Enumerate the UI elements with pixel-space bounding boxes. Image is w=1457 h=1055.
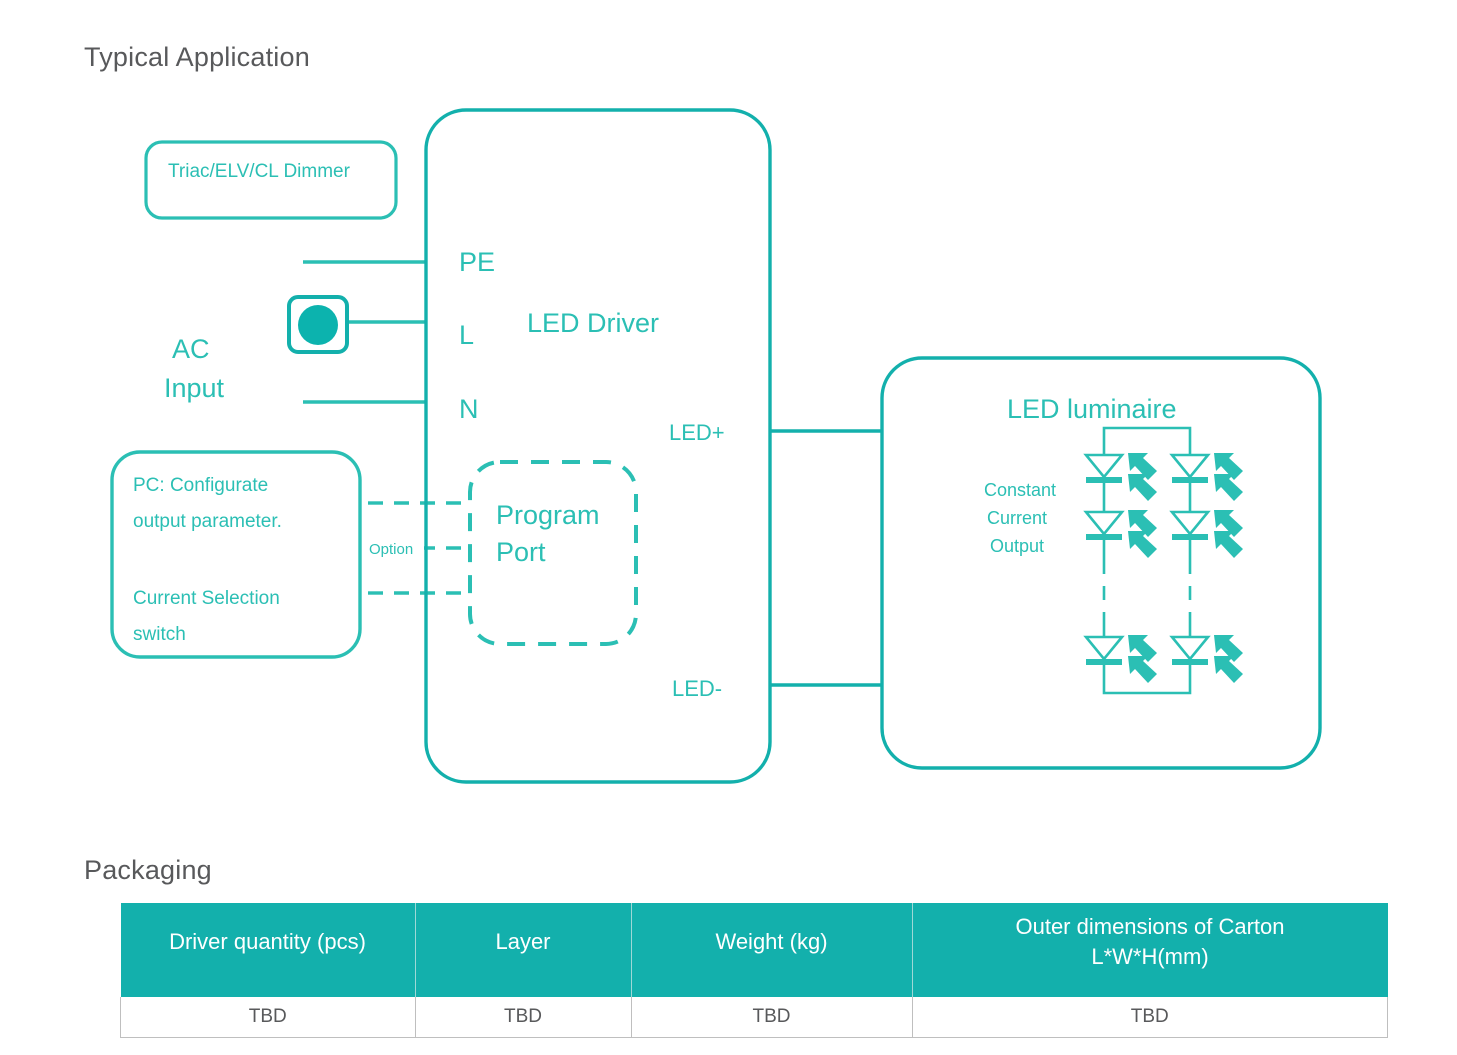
pc-config-line-3: Current Selection <box>133 588 280 609</box>
led-arrow-2 <box>1214 531 1243 558</box>
terminal-label-pe: PE <box>459 247 495 277</box>
typical-application-diagram: Triac/ELV/CL Dimmer AC Input PC: Configu… <box>0 0 1457 840</box>
output-label-led-negative: LED- <box>672 676 722 701</box>
header-line-2: L*W*H(mm) <box>1091 944 1208 969</box>
led-diode-s2-2 <box>1172 510 1243 558</box>
pc-config-line-1: PC: Configurate <box>133 475 268 496</box>
ac-switch-indicator <box>298 305 338 345</box>
led-diode-triangle <box>1086 455 1122 477</box>
led-diode-cathode-bar <box>1086 477 1122 483</box>
led-luminaire-title: LED luminaire <box>1007 394 1177 424</box>
led-driver-box: LED Driver PE L N LED+ LED- <box>426 110 770 782</box>
cell-weight: TBD <box>631 997 912 1038</box>
led-emission-arrows <box>1128 510 1157 558</box>
dimmer-box-label: Triac/ELV/CL Dimmer <box>168 161 351 182</box>
table-header-outer-dimensions: Outer dimensions of Carton L*W*H(mm) <box>912 903 1388 997</box>
led-diode-triangle <box>1172 455 1208 477</box>
table-header-driver-quantity: Driver quantity (pcs) <box>121 903 416 997</box>
led-diode-cathode-bar <box>1086 534 1122 540</box>
cell-layer: TBD <box>415 997 631 1038</box>
header-line-1: Outer dimensions of Carton <box>1015 914 1284 939</box>
pc-config-line-2: output parameter. <box>133 511 282 532</box>
ac-input-label: AC Input <box>164 334 225 403</box>
table-header-layer: Layer <box>415 903 631 997</box>
led-diode-triangle <box>1086 637 1122 659</box>
output-wiring <box>770 431 882 685</box>
cell-outer-dimensions: TBD <box>912 997 1388 1038</box>
led-driver-title: LED Driver <box>527 308 659 338</box>
led-arrow-2 <box>1128 474 1157 501</box>
option-dashed-wiring: Option <box>366 503 470 593</box>
terminal-label-n: N <box>459 394 479 424</box>
cc-output-line3: Output <box>990 536 1044 556</box>
led-rail-bottom <box>1104 686 1190 693</box>
led-diode-cathode-bar <box>1172 477 1208 483</box>
ac-input-label-line1: AC <box>172 334 210 364</box>
program-port-box: Program Port <box>470 462 636 644</box>
table-header-row: Driver quantity (pcs) Layer Weight (kg) … <box>121 903 1388 997</box>
led-luminaire-box: LED luminaire Constant Current Output <box>882 358 1320 768</box>
header-line-1: Driver quantity (pcs) <box>169 929 366 954</box>
led-emission-arrows <box>1128 453 1157 501</box>
packaging-table: Driver quantity (pcs) Layer Weight (kg) … <box>120 903 1388 1038</box>
output-label-led-positive: LED+ <box>669 420 725 445</box>
led-arrow-2 <box>1214 656 1243 683</box>
led-arrow-2 <box>1214 474 1243 501</box>
cc-output-line2: Current <box>987 508 1047 528</box>
program-port-outline <box>470 462 636 644</box>
table-header-weight: Weight (kg) <box>631 903 912 997</box>
cell-driver-quantity: TBD <box>121 997 416 1038</box>
led-diode-triangle <box>1172 512 1208 534</box>
led-diode-s2-3 <box>1172 635 1243 683</box>
led-arrow-2 <box>1128 656 1157 683</box>
led-diode-s1-1 <box>1086 453 1157 501</box>
ac-switch-symbol <box>289 297 347 352</box>
led-emission-arrows <box>1214 635 1243 683</box>
led-diode-triangle <box>1172 637 1208 659</box>
pc-config-line-4: switch <box>133 624 186 645</box>
led-diode-s1-3 <box>1086 635 1157 683</box>
led-emission-arrows <box>1214 453 1243 501</box>
led-string-1 <box>1086 435 1157 686</box>
table-row: TBD TBD TBD TBD <box>121 997 1388 1038</box>
program-port-line1: Program <box>496 500 600 530</box>
pc-config-box: PC: Configurate output parameter. Curren… <box>112 452 360 657</box>
led-emission-arrows <box>1214 510 1243 558</box>
led-emission-arrows <box>1128 635 1157 683</box>
led-string-2 <box>1172 435 1243 686</box>
led-arrow-2 <box>1128 531 1157 558</box>
header-line-1: Layer <box>495 929 550 954</box>
led-diode-triangle <box>1086 512 1122 534</box>
led-rail-top <box>1104 428 1190 435</box>
page-title-packaging: Packaging <box>84 855 212 886</box>
led-diode-s2-1 <box>1172 453 1243 501</box>
ac-input-label-line2: Input <box>164 373 225 403</box>
led-diode-cathode-bar <box>1086 659 1122 665</box>
led-diode-cathode-bar <box>1172 659 1208 665</box>
terminal-label-l: L <box>459 320 474 350</box>
option-label: Option <box>369 541 413 558</box>
header-line-1: Weight (kg) <box>715 929 827 954</box>
program-port-line2: Port <box>496 537 546 567</box>
dimmer-box: Triac/ELV/CL Dimmer <box>146 142 396 218</box>
led-diode-cathode-bar <box>1172 534 1208 540</box>
led-diode-s1-2 <box>1086 510 1157 558</box>
cc-output-line1: Constant <box>984 480 1056 500</box>
